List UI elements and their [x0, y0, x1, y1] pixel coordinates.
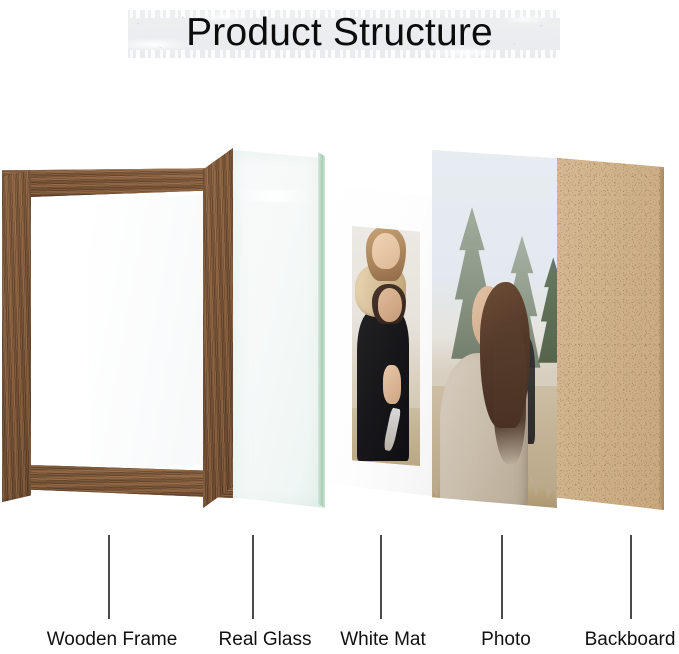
label-photo: Photo [481, 629, 531, 651]
leader-line-backboard [630, 535, 632, 619]
leader-line-real-glass [252, 535, 254, 619]
label-wooden-frame: Wooden Frame [47, 629, 178, 651]
label-backboard: Backboard [585, 629, 676, 651]
product-structure-infographic: Product Structure [0, 0, 679, 654]
leader-line-wooden-frame [108, 535, 110, 619]
label-real-glass: Real Glass [219, 629, 312, 651]
leader-line-white-mat [380, 535, 382, 619]
label-white-mat: White Mat [340, 629, 426, 651]
callout-group: Wooden Frame Real Glass White Mat Photo … [0, 0, 679, 654]
leader-line-photo [501, 535, 503, 619]
